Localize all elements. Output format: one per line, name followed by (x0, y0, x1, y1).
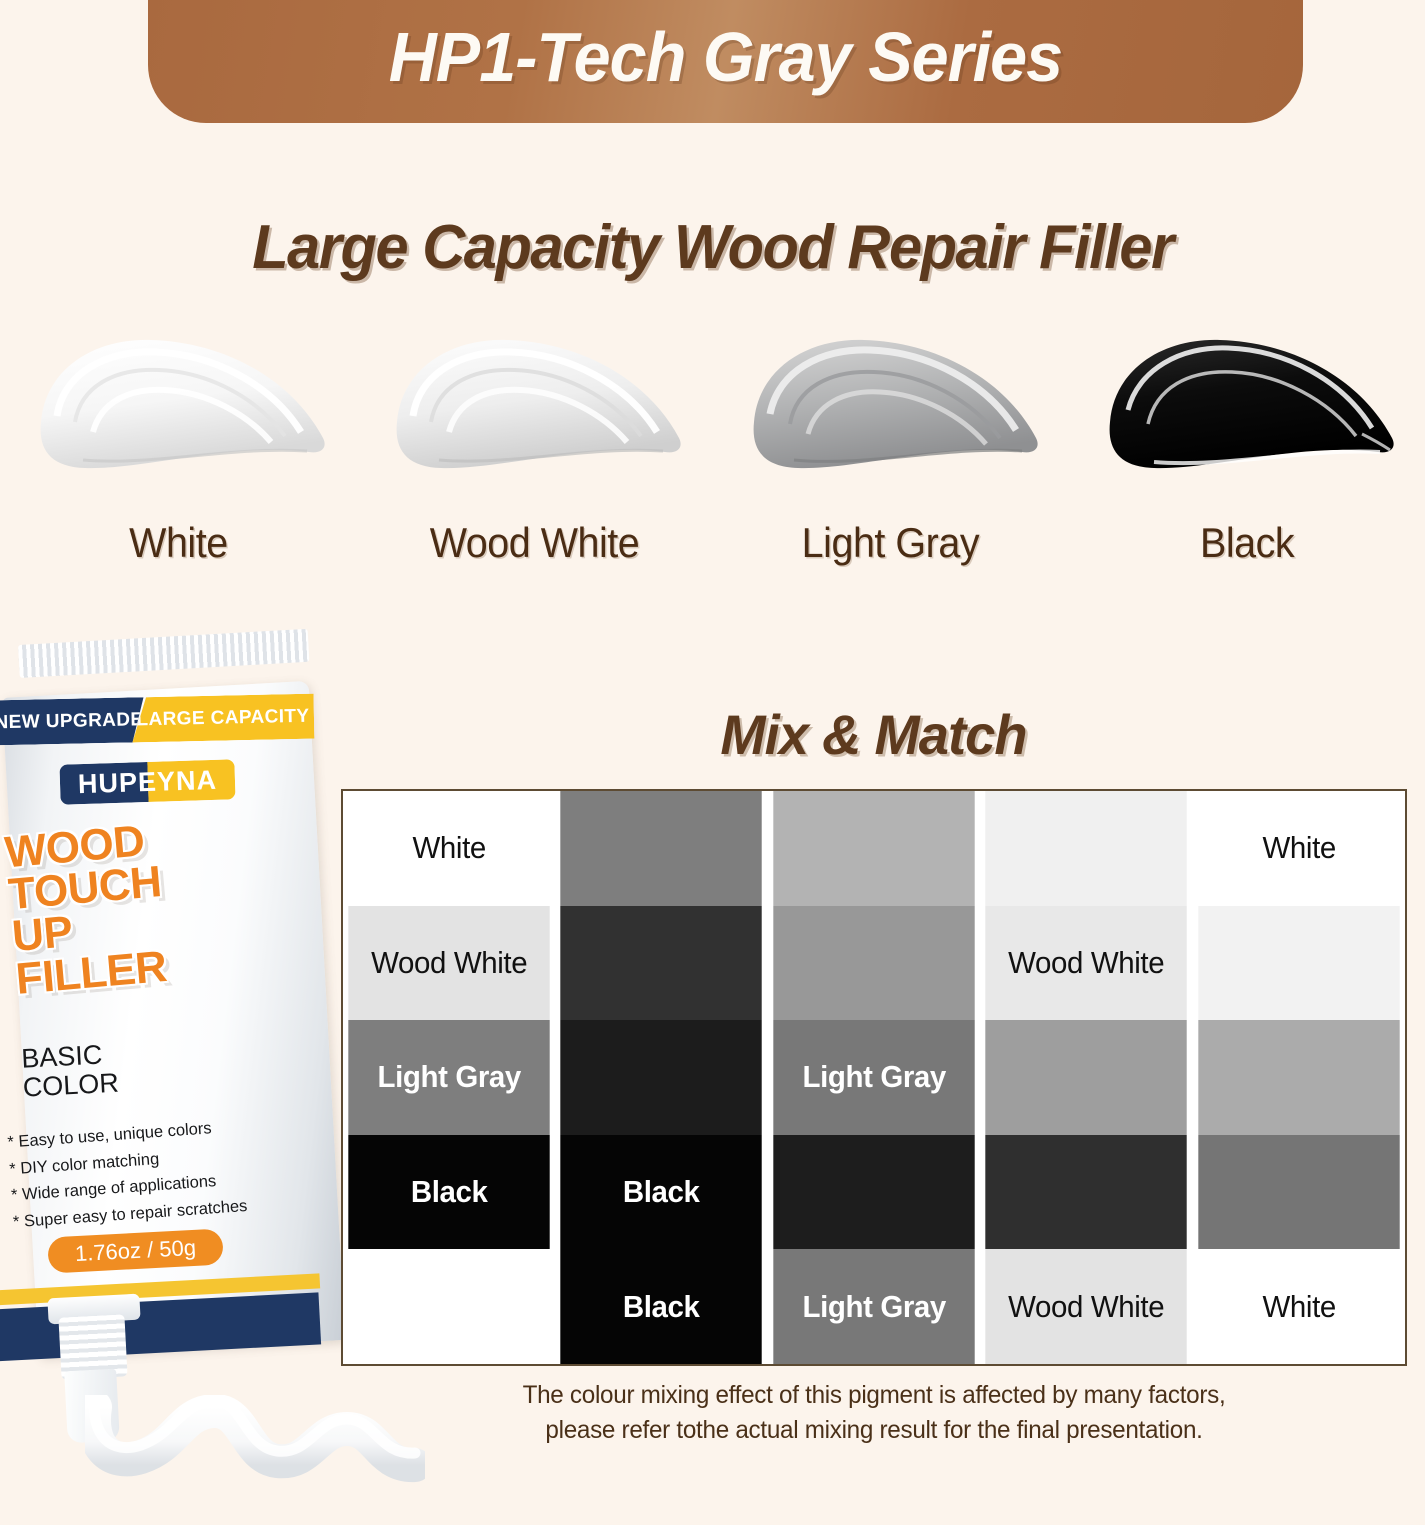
mix-cell: Light Gray (773, 1020, 975, 1135)
tube-top-banner: NEW UPGRADE LARGE CAPACITY (0, 694, 314, 746)
badge-new-upgrade: NEW UPGRADE (0, 697, 144, 745)
mix-cell: Light Gray (773, 1249, 975, 1364)
mix-cell (561, 906, 763, 1021)
swatch-label: White (129, 519, 228, 567)
mix-cell-label: White (1262, 830, 1335, 866)
mix-match-disclaimer: The colour mixing effect of this pigment… (357, 1378, 1391, 1447)
swatch-label: Black (1200, 519, 1294, 567)
paste-smear-icon (1092, 330, 1402, 495)
mix-match-heading: Mix & Match (357, 702, 1390, 767)
mix-cell (773, 906, 975, 1021)
mix-cell (1198, 906, 1400, 1021)
paste-smear-icon (379, 330, 689, 495)
mix-cell (985, 791, 1187, 906)
mix-cell (985, 1135, 1187, 1250)
tube-feature-list: * Easy to use, unique colors * DIY color… (7, 1111, 284, 1236)
mix-cell-label: Wood White (1008, 945, 1164, 981)
brand-name: HUPEYNA (59, 759, 235, 804)
mix-match-grid: WhiteWhiteWood WhiteWood WhiteLight Gray… (341, 789, 1407, 1366)
swatch-label: Wood White (430, 519, 640, 567)
swatch-item-white[interactable]: White (0, 330, 356, 600)
swatch-label: Light Gray (802, 519, 979, 567)
tube-crimp-seal (18, 629, 309, 678)
mix-cell (1198, 1020, 1400, 1135)
badge-large-capacity: LARGE CAPACITY (132, 694, 315, 743)
color-swatch-row: White Wood White (0, 330, 1425, 600)
mix-cell: Wood White (985, 906, 1187, 1021)
header-banner: HP1-Tech Gray Series (148, 0, 1303, 123)
disclaimer-line-1: The colour mixing effect of this pigment… (357, 1378, 1391, 1413)
paste-smear-icon (736, 330, 1046, 495)
mix-cell (561, 1020, 763, 1135)
mix-cell: Black (348, 1135, 550, 1250)
mix-cell: White (1198, 1249, 1400, 1364)
mix-cell (773, 1135, 975, 1250)
mix-cell (1198, 1135, 1400, 1250)
disclaimer-line-2: please refer tothe actual mixing result … (357, 1413, 1391, 1448)
mix-cell: Wood White (985, 1249, 1187, 1364)
mix-cell: Wood White (348, 906, 550, 1021)
mix-cell: White (348, 791, 550, 906)
mix-cell-label: Black (411, 1174, 488, 1210)
mix-cell-label: Light Gray (802, 1059, 945, 1095)
mix-cell-label: White (412, 830, 485, 866)
basic-color-text: BASIC COLOR (21, 1035, 204, 1102)
mix-cell: White (1198, 791, 1400, 906)
mix-cell: Black (561, 1249, 763, 1364)
mix-cell-label: White (1262, 1289, 1335, 1325)
mix-cell-label: Wood White (371, 945, 527, 981)
mix-cell (773, 791, 975, 906)
mix-cell (985, 1020, 1187, 1135)
mix-cell-label: Black (623, 1289, 700, 1325)
mix-cell: Black (561, 1135, 763, 1250)
main-headline: Large Capacity Wood Repair Filler (29, 212, 1397, 283)
mix-cell-label: Wood White (1008, 1289, 1164, 1325)
mix-cell (561, 791, 763, 906)
page-title: HP1-Tech Gray Series (389, 17, 1062, 97)
swatch-item-light-gray[interactable]: Light Gray (713, 330, 1069, 600)
mix-cell: Light Gray (348, 1020, 550, 1135)
mix-cell (348, 1249, 550, 1364)
tube-headline: WOOD TOUCH UP FILLER (3, 808, 297, 1001)
swatch-item-wood-white[interactable]: Wood White (356, 330, 712, 600)
mix-cell-label: Light Gray (802, 1289, 945, 1325)
mix-cell-label: Light Gray (377, 1059, 520, 1095)
product-tube-image: NEW UPGRADE LARGE CAPACITY HUPEYNA WOOD … (0, 645, 330, 1345)
swatch-item-black[interactable]: Black (1069, 330, 1425, 600)
mix-cell-label: Black (623, 1174, 700, 1210)
paste-smear-icon (23, 330, 333, 495)
